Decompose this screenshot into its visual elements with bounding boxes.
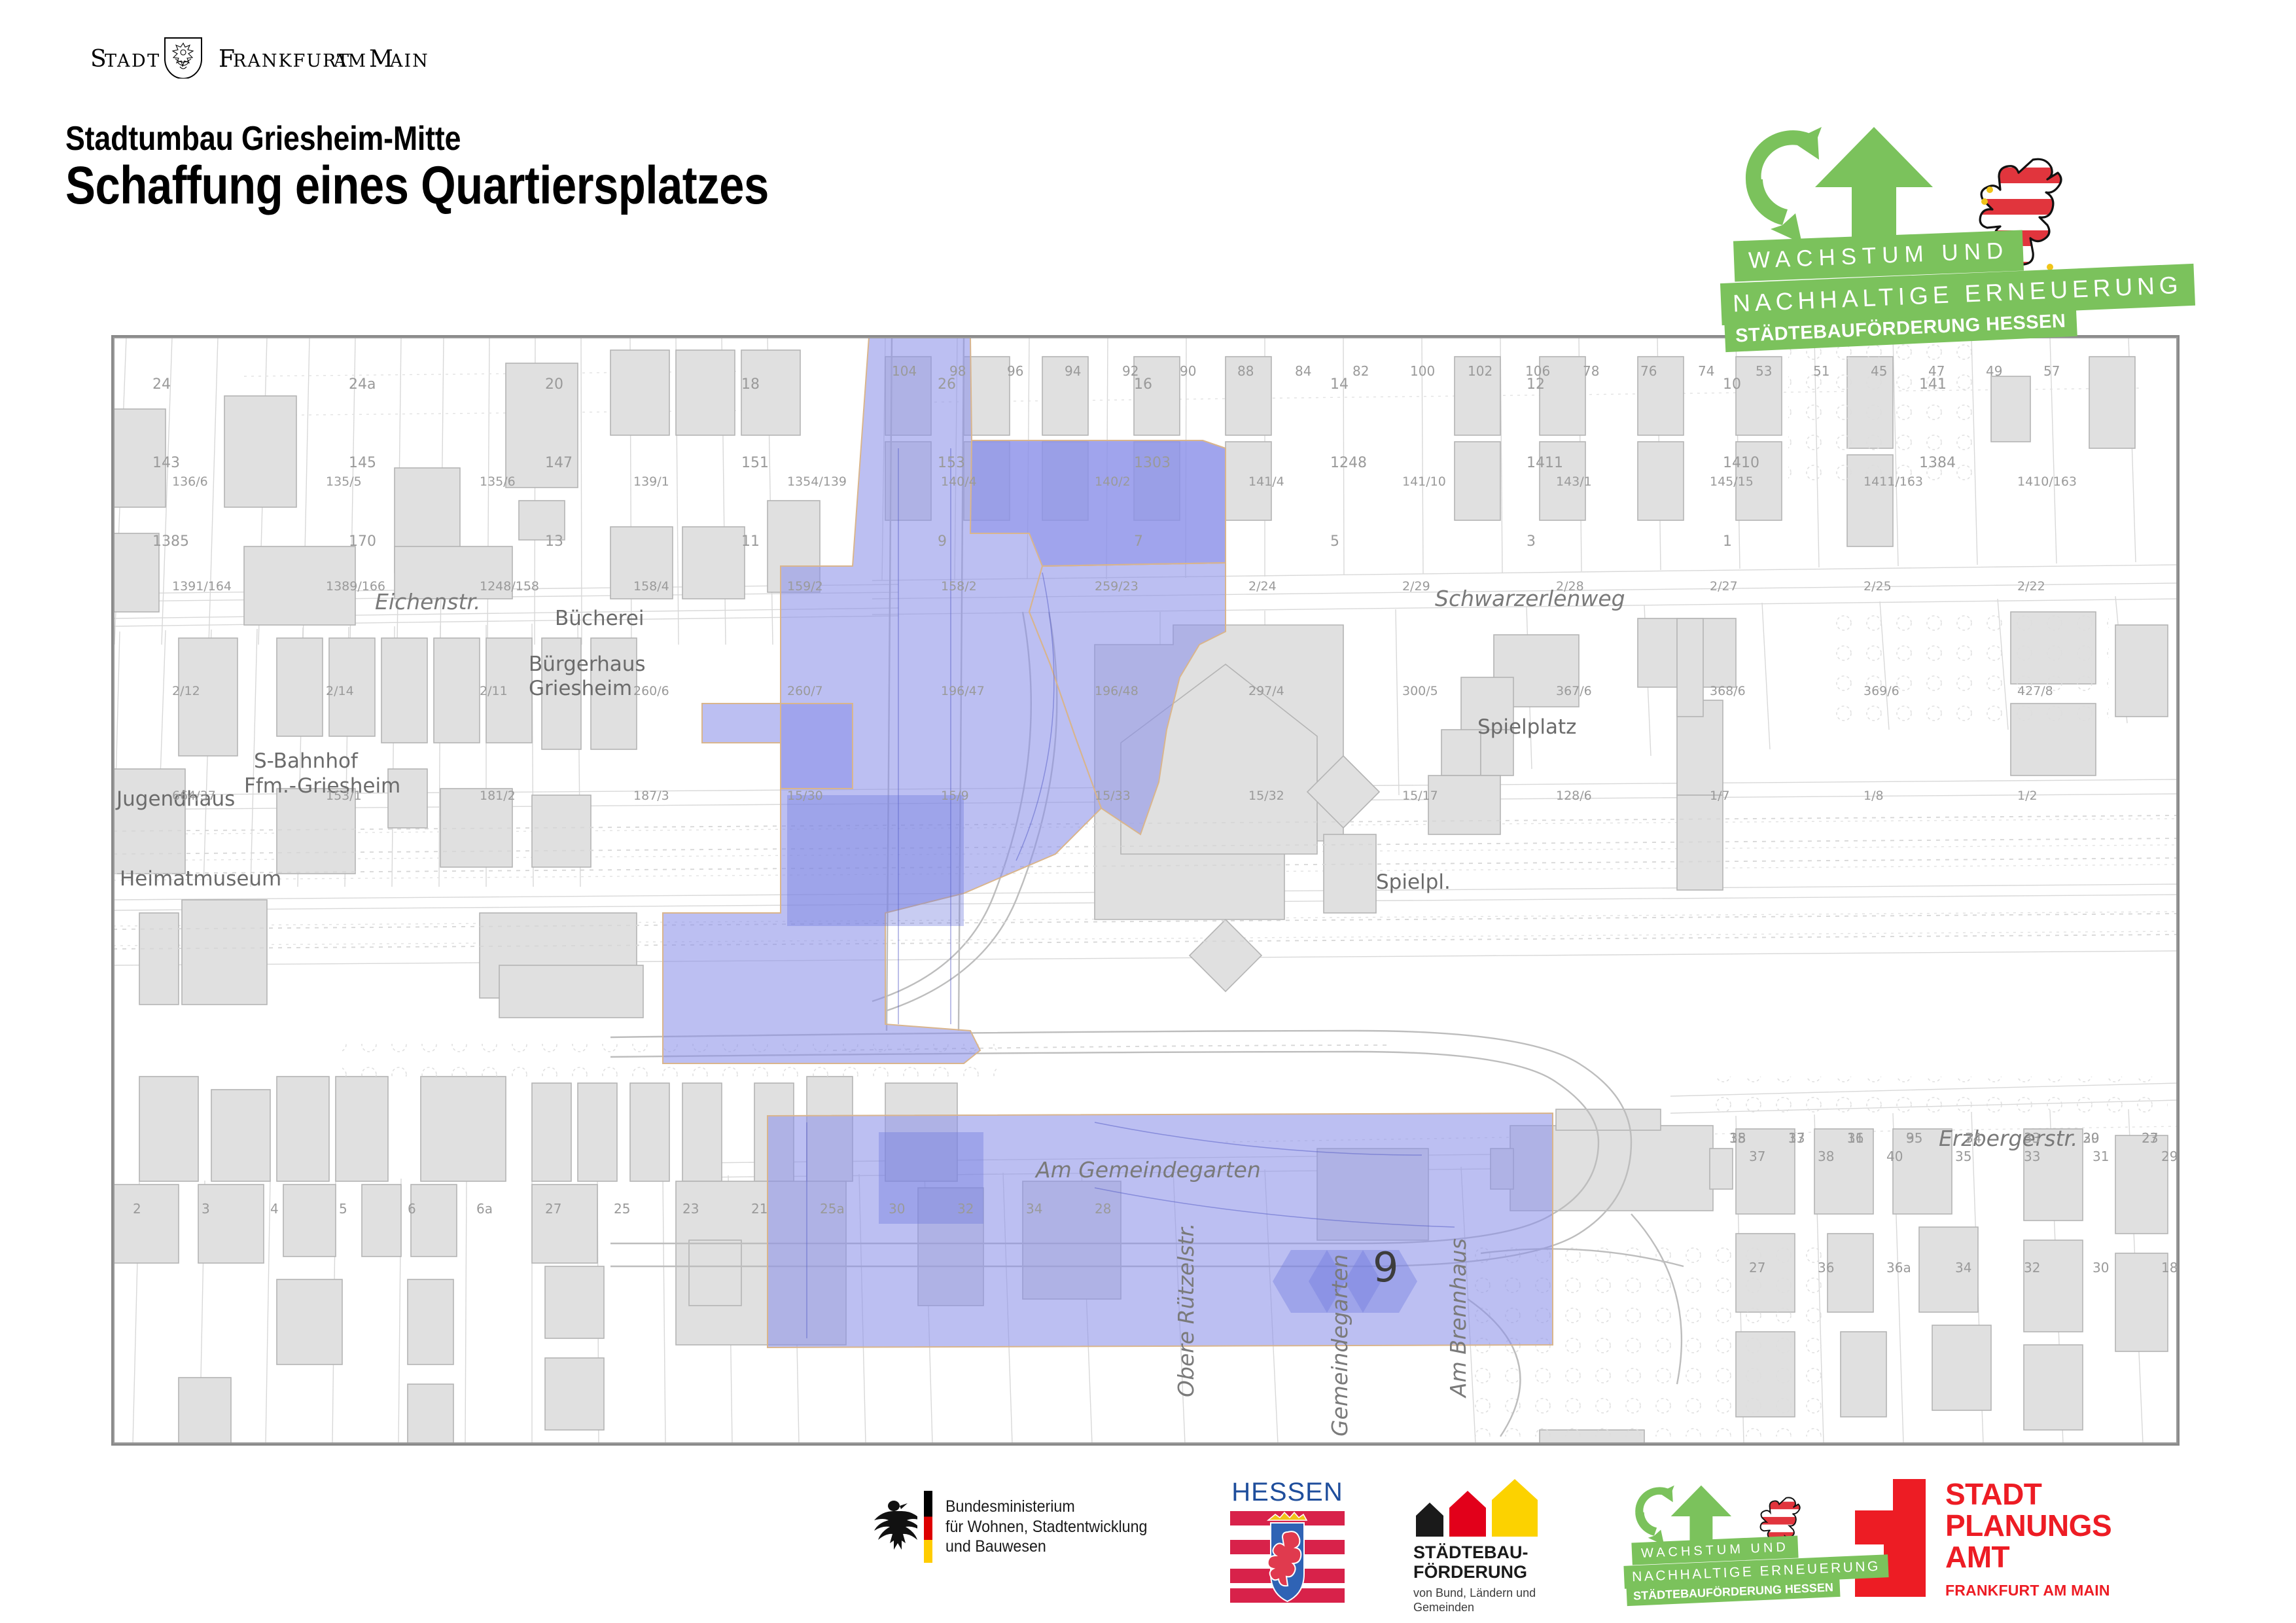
- parcel-number: 300/5: [1402, 684, 1438, 698]
- hessen-wordmark: HESSEN: [1230, 1478, 1345, 1507]
- parcel-number: 1384: [1919, 455, 1956, 471]
- parcel-number: 29: [2161, 1149, 2178, 1164]
- svg-text:AM: AM: [333, 51, 367, 71]
- parcel-number: 15: [1729, 1130, 1746, 1146]
- parcel-number: 147: [545, 455, 573, 471]
- footer-logo-strip: Bundesministerium für Wohnen, Stadtentwi…: [0, 1472, 2296, 1623]
- parcel-number: 11: [1847, 1130, 1863, 1146]
- parcel-number: 1411/163: [1863, 474, 1923, 489]
- parcel-number: 2/22: [2017, 579, 2045, 594]
- parcel-number: 145: [349, 455, 376, 471]
- parcel-number: 369/6: [1863, 684, 1899, 698]
- map-drawing: [113, 337, 2178, 1444]
- parcel-number: 158/2: [941, 579, 977, 594]
- parcel-number: 2/11: [480, 684, 508, 698]
- parcel-number: 1354/139: [787, 474, 847, 489]
- parcel-number: 2: [133, 1201, 141, 1217]
- staedtebaufoerderung-logo: STÄDTEBAU- FÖRDERUNG von Bund, Ländern u…: [1413, 1482, 1577, 1613]
- parcel-number: 2/25: [1863, 579, 1892, 594]
- parcel-number: 31: [2093, 1149, 2109, 1164]
- staedtebau-text: STÄDTEBAU- FÖRDERUNG: [1413, 1543, 1577, 1582]
- parcel-number: 36a: [1886, 1260, 1911, 1275]
- parcel-number: 29: [2083, 1130, 2099, 1146]
- parcel-number: 139/1: [633, 474, 669, 489]
- stadtplanungsamt-wordmark: STADT PLANUNGS AMT FRANKFURT AM MAIN: [1945, 1479, 2111, 1599]
- parcel-number: 78: [1583, 363, 1599, 379]
- poi-label-buecherei: Bücherei: [555, 607, 644, 630]
- parcel-number: 5: [339, 1201, 347, 1217]
- stadtplanungsamt-logo: STADT PLANUNGS AMT FRANKFURT AM MAIN: [1855, 1479, 2182, 1610]
- parcel-number: 7: [1965, 1130, 1973, 1146]
- parcel-number: 1410/163: [2017, 474, 2077, 489]
- parcel-number: 82: [1352, 363, 1369, 379]
- poi-label-griesheim: Griesheim: [529, 677, 632, 700]
- parcel-number: 25: [614, 1201, 630, 1217]
- parcel-number: 33: [2024, 1149, 2040, 1164]
- parcel-number: 13: [545, 533, 563, 550]
- poi-label-heimatmuseum: Heimatmuseum: [120, 867, 281, 891]
- parcel-number: 2/14: [326, 684, 354, 698]
- parcel-number: 18: [2161, 1260, 2178, 1275]
- poi-label-ffm-griesheim: Ffm.-Griesheim: [244, 774, 400, 798]
- street-label-schwarzerlenweg: Schwarzerlenweg: [1435, 586, 1625, 611]
- german-flag-bar: [924, 1491, 932, 1563]
- svg-text:TADT: TADT: [105, 51, 161, 71]
- parcel-number: 32: [2024, 1260, 2040, 1275]
- parcel-number: 297/4: [1248, 684, 1284, 698]
- parcel-number: 136/6: [172, 474, 208, 489]
- parcel-number: 1385: [152, 533, 189, 550]
- parcel-number: 187/3: [633, 789, 669, 803]
- parcel-number: 664/37: [172, 789, 216, 803]
- parcel-number: 1/2: [2017, 789, 2038, 803]
- parcel-number: 9: [938, 533, 947, 550]
- cadastral-map[interactable]: Eichenstr. Schwarzerlenweg Erzbergerstr.…: [111, 335, 2180, 1446]
- parcel-number: 15/17: [1402, 789, 1438, 803]
- parcel-number: 38: [1818, 1149, 1834, 1164]
- parcel-number: 96: [1007, 363, 1023, 379]
- parcel-number: 90: [1180, 363, 1196, 379]
- parcel-number: 153/1: [326, 789, 362, 803]
- parcel-number: 45: [1871, 363, 1887, 379]
- parcel-number: 28: [1095, 1201, 1111, 1217]
- svg-text:AIN: AIN: [389, 51, 429, 71]
- parcel-number: 21: [751, 1201, 768, 1217]
- parcel-number: 30: [2093, 1260, 2109, 1275]
- parcel-number: 92: [1122, 363, 1139, 379]
- parcel-number: 7: [1134, 533, 1143, 550]
- parcel-number: 367/6: [1556, 684, 1592, 698]
- parcel-number: 2/24: [1248, 579, 1277, 594]
- parcel-number: 35: [1955, 1149, 1971, 1164]
- parcel-number: 2/12: [172, 684, 200, 698]
- parcel-number: 128/6: [1556, 789, 1592, 803]
- parcel-number: 135/5: [326, 474, 362, 489]
- street-label-erzbergerstr: Erzbergerstr.: [1939, 1126, 2078, 1151]
- parcel-number: 1248: [1330, 455, 1367, 471]
- staedtebau-sub-1: von Bund, Ländern und: [1413, 1586, 1577, 1601]
- parcel-number: 1/7: [1710, 789, 1730, 803]
- parcel-number: 24a: [349, 376, 376, 393]
- parcel-number: 3: [1527, 533, 1536, 550]
- parcel-number: 20: [545, 376, 563, 393]
- parcel-number: 159/2: [787, 579, 823, 594]
- street-label-gemeindegarten: Gemeindegarten: [1327, 1254, 1352, 1436]
- parcel-number: 151: [741, 455, 769, 471]
- parcel-number: 2/27: [1710, 579, 1738, 594]
- parcel-number: 4: [270, 1201, 279, 1217]
- parcel-number: 158/4: [633, 579, 669, 594]
- stadtplanungsamt-mark-icon: [1855, 1479, 1926, 1597]
- parcel-number: 141/10: [1402, 474, 1446, 489]
- spa-line-3: AMT: [1945, 1542, 2111, 1573]
- parcel-number: 6: [408, 1201, 416, 1217]
- staedtebau-sub-2: Gemeinden: [1413, 1601, 1577, 1615]
- parcel-number: 1391/164: [172, 579, 232, 594]
- parcel-number: 196/47: [941, 684, 985, 698]
- spa-line-1: STADT: [1945, 1479, 2111, 1510]
- parcel-number: 259/23: [1095, 579, 1139, 594]
- parcel-number: 2/29: [1402, 579, 1430, 594]
- bmwsb-logo: Bundesministerium für Wohnen, Stadtentwi…: [870, 1484, 1178, 1569]
- parcel-number: 140/4: [941, 474, 977, 489]
- parcel-number: 145/15: [1710, 474, 1754, 489]
- parcel-number: 27: [2142, 1130, 2158, 1146]
- bmwsb-line-3: und Bauwesen: [945, 1537, 1147, 1557]
- parcel-number: 76: [1640, 363, 1657, 379]
- parcel-number: 106: [1525, 363, 1550, 379]
- parcel-number: 15/9: [941, 789, 969, 803]
- spa-subline: FRANKFURT AM MAIN: [1945, 1582, 2111, 1599]
- staedtebau-line-1: STÄDTEBAU-: [1413, 1543, 1577, 1562]
- bmwsb-line-1: Bundesministerium: [945, 1497, 1147, 1517]
- parcel-number: 51: [1813, 363, 1829, 379]
- parcel-number: 2/28: [1556, 579, 1584, 594]
- poi-label-s-bahnhof: S-Bahnhof: [254, 749, 358, 773]
- parcel-number: 196/48: [1095, 684, 1139, 698]
- street-label-eichenstr: Eichenstr.: [375, 589, 480, 615]
- parcel-number: 9: [1906, 1130, 1915, 1146]
- parcel-number: 34: [1026, 1201, 1042, 1217]
- parcel-number: 25a: [820, 1201, 845, 1217]
- parcel-number: 181/2: [480, 789, 516, 803]
- poi-label-spielpl: Spielpl.: [1376, 870, 1451, 894]
- parcel-number: 1/8: [1863, 789, 1884, 803]
- parcel-number: 260/7: [787, 684, 823, 698]
- street-label-am-brennhaus: Am Brennhaus: [1445, 1238, 1471, 1397]
- parcel-number: 47: [1928, 363, 1945, 379]
- parcel-number: 140/2: [1095, 474, 1131, 489]
- parcel-number: 14: [1330, 376, 1349, 393]
- parcel-number: 153: [938, 455, 965, 471]
- parcel-number: 100: [1410, 363, 1435, 379]
- project-subtitle: Stadtumbau Griesheim-Mitte: [65, 119, 461, 158]
- parcel-number: 143: [152, 455, 180, 471]
- parcel-number: 53: [1756, 363, 1772, 379]
- parcel-number: 3: [202, 1201, 210, 1217]
- street-label-am-gemeindegarten: Am Gemeindegarten: [1036, 1157, 1261, 1183]
- staedtebau-subtext: von Bund, Ländern und Gemeinden: [1413, 1586, 1577, 1614]
- parcel-number: 1248/158: [480, 579, 539, 594]
- parcel-number: 49: [1986, 363, 2002, 379]
- parcel-number: 30: [889, 1201, 905, 1217]
- parcel-number: 260/6: [633, 684, 669, 698]
- parcel-number: 24: [152, 376, 171, 393]
- parcel-number: 170: [349, 533, 376, 550]
- parcel-number: 10: [1723, 376, 1741, 393]
- svg-text:RANKFURT: RANKFURT: [233, 51, 350, 71]
- parcel-number: 15/30: [787, 789, 823, 803]
- parcel-number: 98: [949, 363, 966, 379]
- bmwsb-line-2: für Wohnen, Stadtentwicklung: [945, 1517, 1147, 1537]
- hessen-coat-of-arms-icon: [1230, 1511, 1345, 1603]
- parcel-number: 104: [892, 363, 917, 379]
- parcel-number: 1411: [1527, 455, 1563, 471]
- parcel-number: 5: [1330, 533, 1339, 550]
- parcel-number: 34: [1955, 1260, 1971, 1275]
- spa-line-2: PLANUNGS: [1945, 1510, 2111, 1542]
- parcel-number: 15/33: [1095, 789, 1131, 803]
- wachstum-footer-logo: WACHSTUM UND NACHHALTIGE ERNEUERUNG STÄD…: [1623, 1482, 1839, 1609]
- parcel-number: 1389/166: [326, 579, 385, 594]
- parcel-number: 40: [1886, 1149, 1903, 1164]
- stadt-frankfurt-am-main-logo: S TADT F RANKFURT AM M AIN: [90, 33, 509, 79]
- map-marker-number: 9: [1373, 1243, 1398, 1291]
- parcel-number: 94: [1065, 363, 1081, 379]
- parcel-number: 3: [2024, 1130, 2032, 1146]
- three-houses-icon: [1413, 1482, 1577, 1537]
- parcel-number: 15/32: [1248, 789, 1284, 803]
- parcel-number: 102: [1468, 363, 1492, 379]
- parcel-number: 32: [957, 1201, 974, 1217]
- parcel-number: 13: [1788, 1130, 1805, 1146]
- federal-eagle-icon: [870, 1497, 917, 1557]
- parcel-number: 27: [545, 1201, 561, 1217]
- parcel-number: 74: [1698, 363, 1714, 379]
- parcel-number: 57: [2043, 363, 2060, 379]
- parcel-number: 36: [1818, 1260, 1834, 1275]
- parcel-number: 143/1: [1556, 474, 1592, 489]
- poi-label-buergerhaus: Bürgerhaus: [529, 652, 646, 676]
- staedtebau-line-2: FÖRDERUNG: [1413, 1562, 1577, 1582]
- hessen-state-logo: HESSEN: [1230, 1478, 1345, 1602]
- bmwsb-text: Bundesministerium für Wohnen, Stadtentwi…: [945, 1497, 1147, 1557]
- parcel-number: 368/6: [1710, 684, 1746, 698]
- parcel-number: 27: [1749, 1260, 1765, 1275]
- parcel-number: 1410: [1723, 455, 1759, 471]
- parcel-number: 11: [741, 533, 760, 550]
- parcel-number: 427/8: [2017, 684, 2053, 698]
- parcel-number: 37: [1749, 1149, 1765, 1164]
- parcel-number: 1: [1723, 533, 1732, 550]
- page-title: Schaffung eines Quartiersplatzes: [65, 155, 769, 217]
- poi-label-spielplatz: Spielplatz: [1477, 715, 1576, 739]
- parcel-number: 84: [1295, 363, 1311, 379]
- parcel-number: 23: [682, 1201, 699, 1217]
- street-label-obere-ruetzelstr: Obere Rützelstr.: [1173, 1223, 1199, 1397]
- parcel-number: 141/4: [1248, 474, 1284, 489]
- parcel-number: 135/6: [480, 474, 516, 489]
- parcel-number: 1303: [1134, 455, 1171, 471]
- parcel-number: 88: [1237, 363, 1254, 379]
- parcel-number: 6a: [476, 1201, 493, 1217]
- parcel-number: 18: [741, 376, 760, 393]
